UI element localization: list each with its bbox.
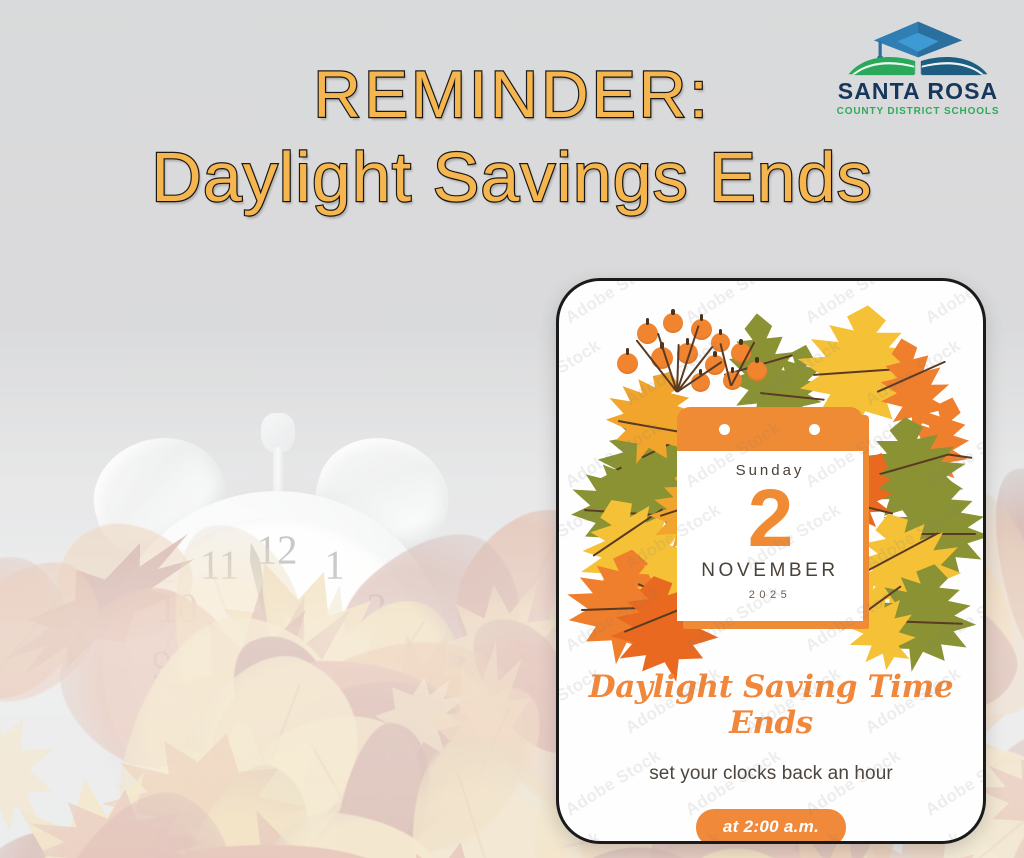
logo-subtitle: COUNTY DISTRICT SCHOOLS bbox=[830, 106, 1006, 117]
berry bbox=[637, 323, 658, 344]
calendar-hole-right bbox=[809, 424, 820, 435]
berry bbox=[617, 353, 638, 374]
daylight-saving-card: Sunday 2 NOVEMBER 2025 Daylight Saving T… bbox=[556, 278, 986, 844]
poster-canvas: 121234567891011 REMINDER: Daylight Savin… bbox=[0, 0, 1024, 858]
berry bbox=[663, 313, 683, 333]
calendar-hole-left bbox=[719, 424, 730, 435]
berry bbox=[747, 361, 767, 381]
calendar-month: NOVEMBER bbox=[677, 560, 863, 582]
title-line-subject: Daylight Savings Ends bbox=[0, 140, 1024, 214]
card-headline: Daylight Saving Time Ends bbox=[559, 669, 983, 741]
calendar-year: 2025 bbox=[677, 589, 863, 601]
calendar-header-bar bbox=[677, 407, 863, 451]
district-logo: SANTA ROSA COUNTY DISTRICT SCHOOLS bbox=[830, 16, 1006, 117]
graduation-cap-book-icon bbox=[830, 16, 1006, 78]
card-time-badge: at 2:00 a.m. bbox=[696, 809, 846, 844]
calendar-graphic: Sunday 2 NOVEMBER 2025 bbox=[677, 407, 863, 621]
calendar-body: Sunday 2 NOVEMBER 2025 bbox=[677, 451, 863, 621]
card-subline: set your clocks back an hour bbox=[559, 763, 983, 785]
card-message: Daylight Saving Time Ends set your clock… bbox=[559, 669, 983, 844]
calendar-day-number: 2 bbox=[677, 481, 863, 556]
logo-name: SANTA ROSA bbox=[830, 79, 1006, 104]
